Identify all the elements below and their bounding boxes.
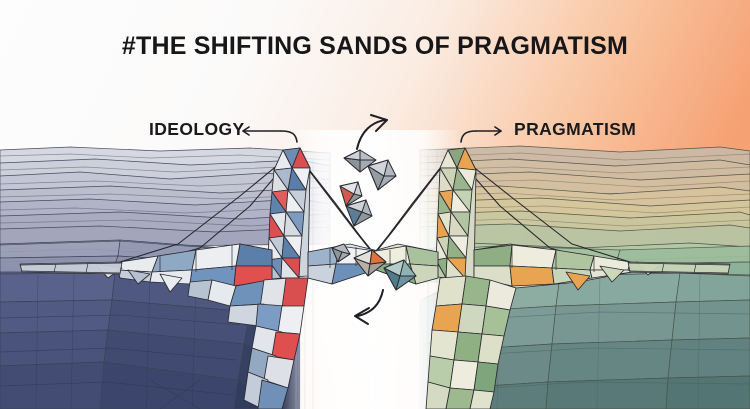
illustration-canvas: #THE SHIFTING SANDS OF PRAGMATISM IDEOLO… [0,0,750,409]
label-pragmatism: PRAGMATISM [514,119,636,140]
label-ideology: IDEOLOGY [149,119,245,140]
scene-vector-artwork [0,0,750,409]
